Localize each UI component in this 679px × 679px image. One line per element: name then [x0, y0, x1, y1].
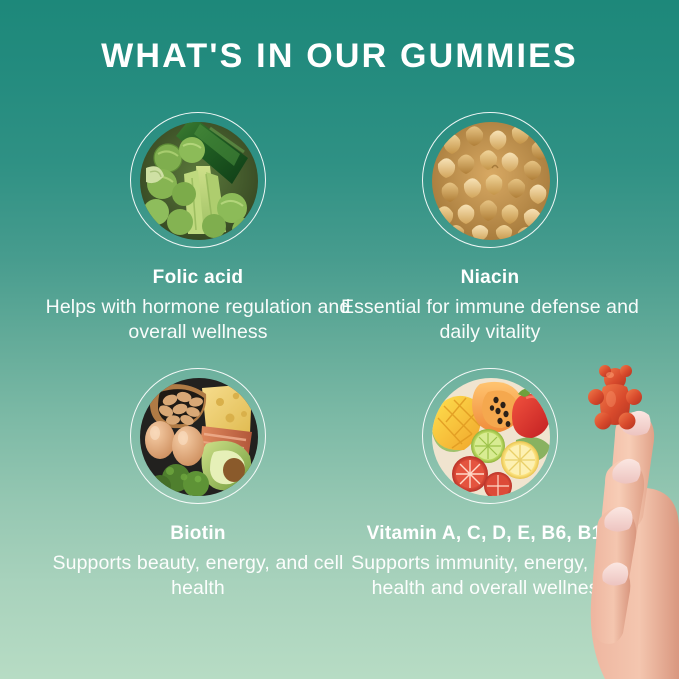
ingredient-card-folic-acid: Folic acid Helps with hormone regulation…	[28, 112, 368, 345]
ingredient-grid: Folic acid Helps with hormone regulation…	[0, 112, 679, 672]
ingredient-description: Helps with hormone regulation and overal…	[28, 295, 368, 345]
ingredient-card-biotin: Biotin Supports beauty, energy, and cell…	[28, 368, 368, 601]
infographic-canvas: WHAT'S IN OUR GUMMIES	[0, 0, 679, 679]
ingredient-ring-niacin	[422, 112, 558, 248]
ingredient-ring-biotin	[130, 368, 266, 504]
page-title: WHAT'S IN OUR GUMMIES	[101, 38, 578, 75]
ingredient-card-vitamins: Vitamin A, C, D, E, B6, B12 Supports imm…	[320, 368, 660, 601]
page-title-container: WHAT'S IN OUR GUMMIES	[0, 38, 679, 75]
ingredient-description: Supports beauty, energy, and cell health	[28, 551, 368, 601]
ingredient-name: Folic acid	[28, 267, 368, 290]
eggs-nuts-cheese-avocado-photo	[140, 378, 258, 496]
ingredient-name: Vitamin A, C, D, E, B6, B12	[320, 523, 660, 546]
green-vegetables-photo	[140, 122, 258, 240]
tropical-fruits-photo	[432, 378, 550, 496]
ingredient-ring-folic-acid	[130, 112, 266, 248]
ingredient-description: Essential for immune defense and daily v…	[320, 295, 660, 345]
buckwheat-grains-photo	[432, 122, 550, 240]
ingredient-description: Supports immunity, energy, skin health a…	[320, 551, 660, 601]
ingredient-ring-vitamins	[422, 368, 558, 504]
ingredient-card-niacin: Niacin Essential for immune defense and …	[320, 112, 660, 345]
ingredient-name: Biotin	[28, 523, 368, 546]
ingredient-name: Niacin	[320, 267, 660, 290]
